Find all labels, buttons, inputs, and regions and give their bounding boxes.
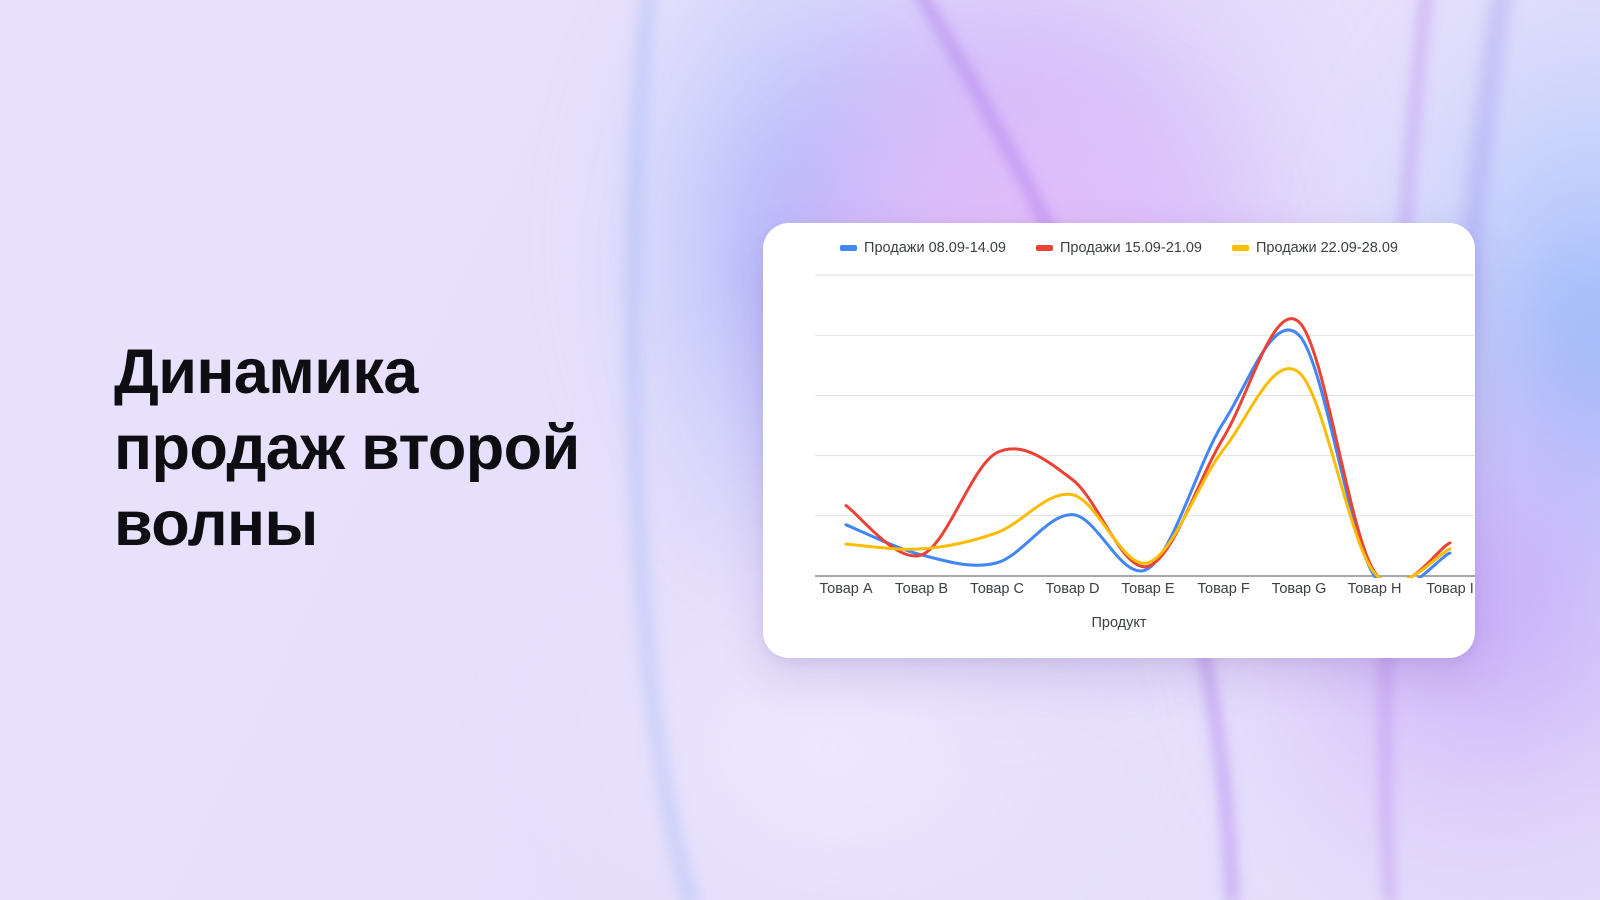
page-title: Динамика продаж второй волны [114,334,754,562]
x-axis-label-8: Товар H [1348,581,1402,597]
chart-series-line-3[interactable] [846,369,1450,583]
chart-x-axis-title: Продукт [763,615,1475,631]
x-axis-label-2: Товар B [895,581,948,597]
x-axis-label-9: Товар I [1426,581,1474,597]
x-axis-label-4: Товар D [1046,581,1100,597]
line-chart: Продажи 08.09-14.09 Продажи 15.09-21.09 … [763,223,1475,658]
x-axis-label-7: Товар G [1272,581,1327,597]
chart-x-axis-labels: Товар AТовар BТовар CТовар DТовар EТовар… [763,581,1475,601]
x-axis-label-1: Товар A [819,581,872,597]
chart-card: Продажи 08.09-14.09 Продажи 15.09-21.09 … [763,223,1475,658]
chart-series-line-1[interactable] [846,330,1450,588]
x-axis-label-5: Товар E [1121,581,1174,597]
x-axis-label-3: Товар C [970,581,1024,597]
slide-canvas: Динамика продаж второй волны Продажи 08.… [0,0,1600,900]
x-axis-label-6: Товар F [1197,581,1249,597]
